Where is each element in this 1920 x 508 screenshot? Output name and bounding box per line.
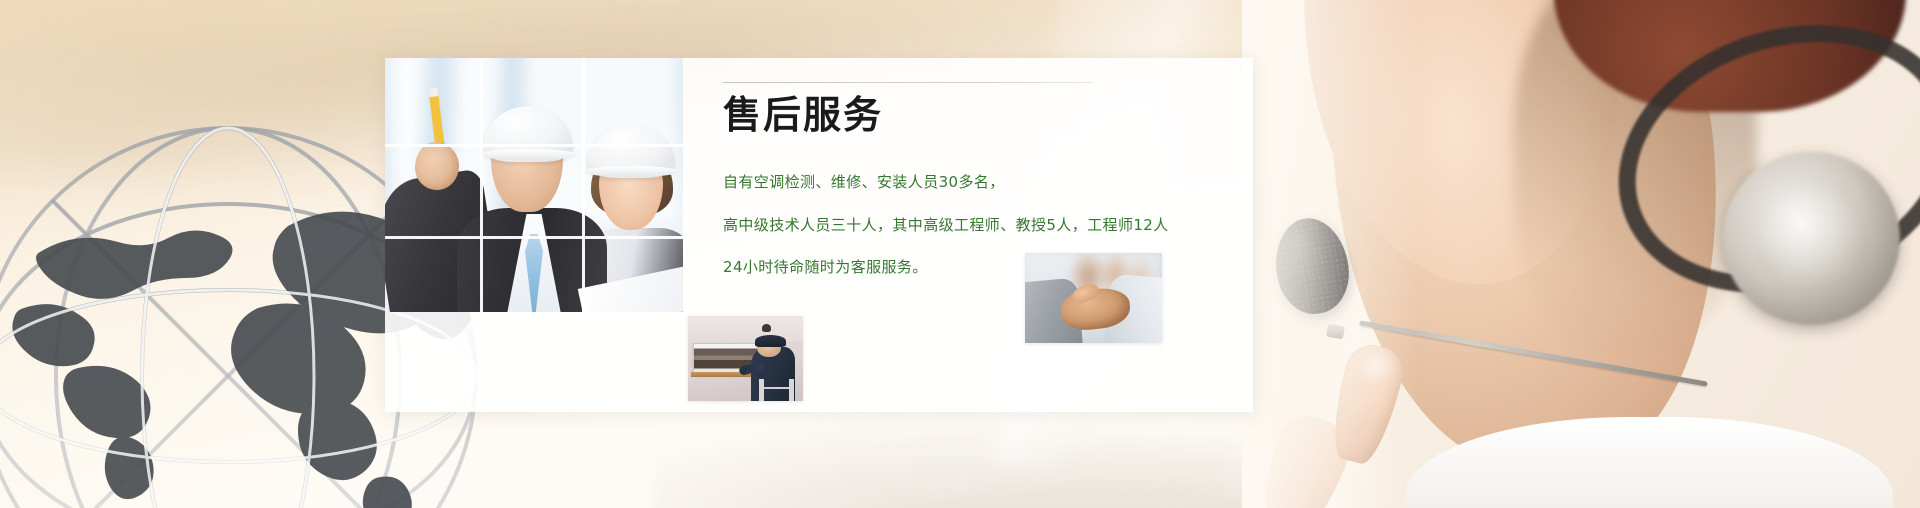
after-sales-service-banner: 售后服务 自有空调检测、维修、安装人员30多名， 高中级技术人员三十人，其中高级… bbox=[0, 0, 1920, 508]
technician-cap bbox=[755, 335, 786, 347]
agent-photo-left-fade bbox=[1242, 0, 1418, 508]
headset-agent-photo bbox=[1242, 0, 1920, 508]
engineers-photo bbox=[385, 58, 683, 312]
ceiling-sensor-icon bbox=[762, 324, 771, 332]
heading-divider bbox=[723, 82, 1093, 83]
headset-earcup bbox=[1723, 152, 1899, 325]
step-ladder bbox=[759, 379, 794, 401]
description-line-2: 高中级技术人员三十人，其中高级工程师、教授5人，工程师12人 bbox=[723, 215, 1223, 237]
description-line-3: 24小时待命随时为客服服务。 bbox=[723, 257, 1223, 279]
card-text-block: 售后服务 自有空调检测、维修、安装人员30多名， 高中级技术人员三十人，其中高级… bbox=[723, 82, 1223, 279]
engineer-hand bbox=[415, 142, 459, 190]
room-ceiling bbox=[688, 316, 803, 342]
ac-technician-photo bbox=[688, 316, 803, 401]
description-line-1: 自有空调检测、维修、安装人员30多名， bbox=[723, 172, 1223, 194]
page-title: 售后服务 bbox=[723, 93, 1223, 138]
content-card: 售后服务 自有空调检测、维修、安装人员30多名， 高中级技术人员三十人，其中高级… bbox=[385, 58, 1253, 412]
description-list: 自有空调检测、维修、安装人员30多名， 高中级技术人员三十人，其中高级工程师、教… bbox=[723, 172, 1223, 279]
